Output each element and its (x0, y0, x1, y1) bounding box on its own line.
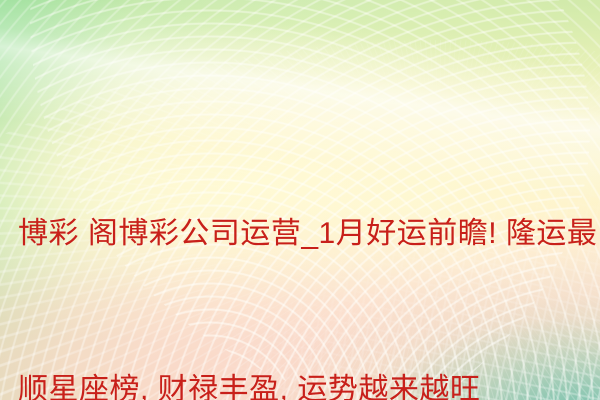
headline-line-2: 顺星座榜, 财禄丰盈, 运势越来越旺 (18, 364, 586, 400)
headline-line-1: 博彩 阁博彩公司运营_1月好运前瞻! 隆运最 (18, 208, 586, 260)
promotional-banner: 博彩 阁博彩公司运营_1月好运前瞻! 隆运最 顺星座榜, 财禄丰盈, 运势越来越… (0, 0, 600, 400)
banner-headline: 博彩 阁博彩公司运营_1月好运前瞻! 隆运最 顺星座榜, 财禄丰盈, 运势越来越… (18, 104, 586, 400)
